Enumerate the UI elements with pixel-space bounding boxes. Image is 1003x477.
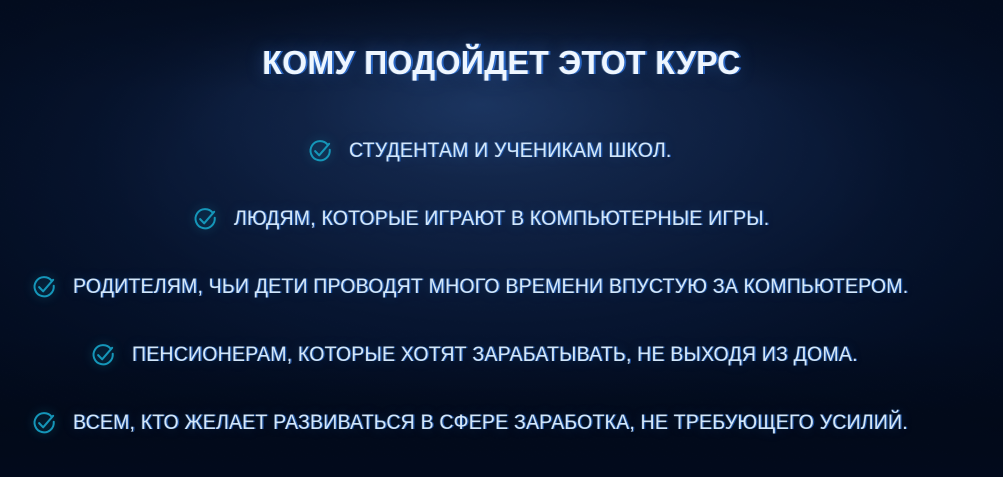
list-item-label: СТУДЕНТАМ И УЧЕНИКАМ ШКОЛ. [349,139,672,163]
circle-check-icon [193,207,218,232]
circle-check-icon [91,343,116,368]
list-item: ПЕНСИОНЕРАМ, КОТОРЫЕ ХОТЯТ ЗАРАБАТЫВАТЬ,… [0,336,1003,374]
circle-check-icon [32,275,57,300]
landing-section: КОМУ ПОДОЙДЕТ ЭТОТ КУРС СТУДЕНТАМ И УЧЕН… [0,0,1003,477]
list-item: ЛЮДЯМ, КОТОРЫЕ ИГРАЮТ В КОМПЬЮТЕРНЫЕ ИГР… [0,200,1003,238]
list-item-label: ПЕНСИОНЕРАМ, КОТОРЫЕ ХОТЯТ ЗАРАБАТЫВАТЬ,… [132,343,858,367]
list-item: РОДИТЕЛЯМ, ЧЬИ ДЕТИ ПРОВОДЯТ МНОГО ВРЕМЕ… [0,268,1003,306]
audience-checklist: СТУДЕНТАМ И УЧЕНИКАМ ШКОЛ. ЛЮДЯМ, КОТОРЫ… [0,132,1003,442]
circle-check-icon [32,411,57,436]
list-item-label: ЛЮДЯМ, КОТОРЫЕ ИГРАЮТ В КОМПЬЮТЕРНЫЕ ИГР… [234,207,769,231]
list-item-label: РОДИТЕЛЯМ, ЧЬИ ДЕТИ ПРОВОДЯТ МНОГО ВРЕМЕ… [73,275,908,299]
section-content: КОМУ ПОДОЙДЕТ ЭТОТ КУРС СТУДЕНТАМ И УЧЕН… [0,0,1003,477]
list-item: ВСЕМ, КТО ЖЕЛАЕТ РАЗВИВАТЬСЯ В СФЕРЕ ЗАР… [0,404,1003,442]
list-item-label: ВСЕМ, КТО ЖЕЛАЕТ РАЗВИВАТЬСЯ В СФЕРЕ ЗАР… [73,411,908,435]
circle-check-icon [308,139,333,164]
list-item: СТУДЕНТАМ И УЧЕНИКАМ ШКОЛ. [0,132,1003,170]
page-title: КОМУ ПОДОЙДЕТ ЭТОТ КУРС [15,43,988,83]
